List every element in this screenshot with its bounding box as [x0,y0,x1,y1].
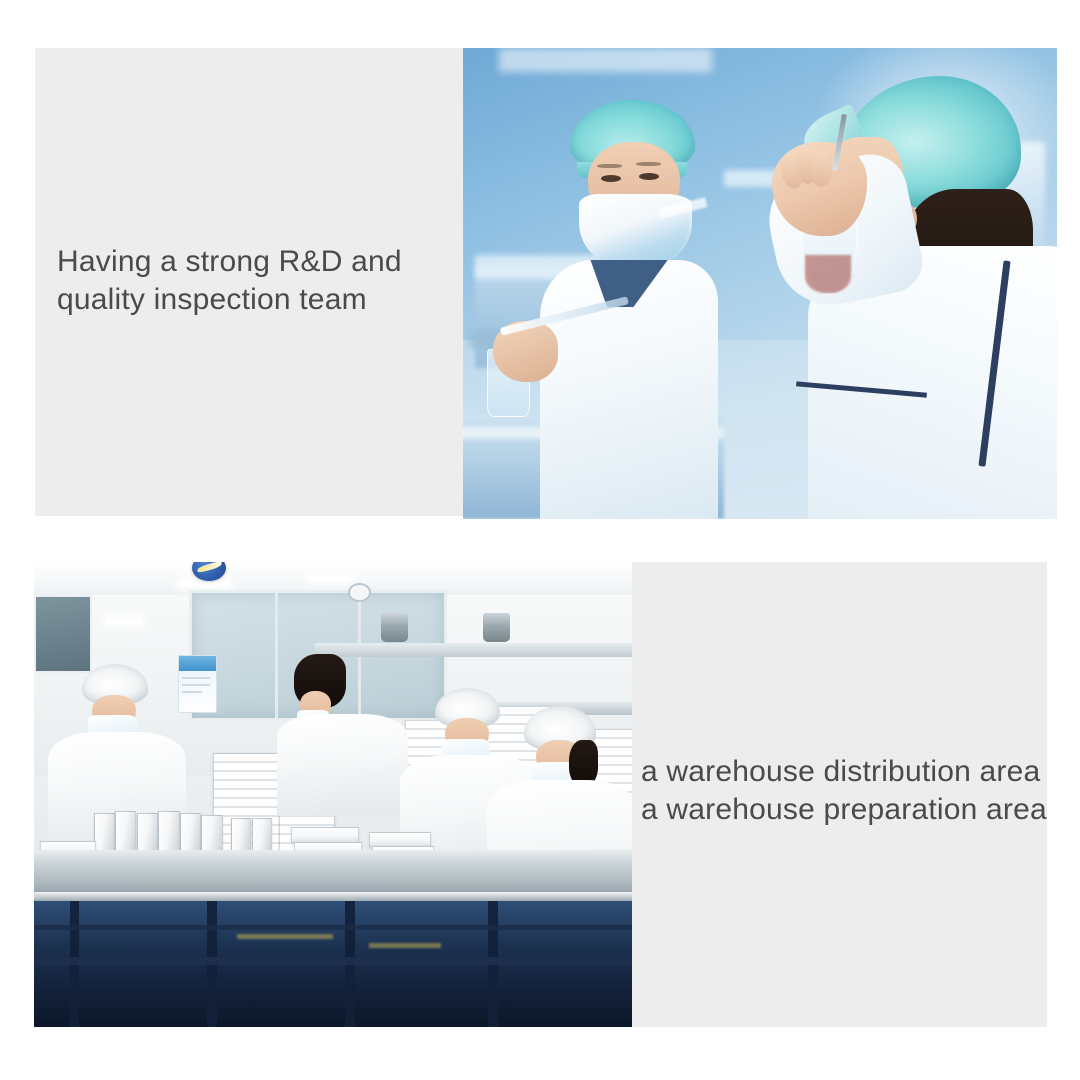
window-mullion [275,593,278,719]
rnd-caption-line-1: Having a strong R&D and [57,243,457,281]
rnd-caption-line-2: quality inspection team [57,281,457,319]
notice-header [179,656,216,671]
worker-left [82,664,148,766]
warehouse-caption-line-2: a warehouse preparation area [641,791,1041,829]
table-rail [34,925,632,931]
worker-white-coat [277,714,409,816]
rnd-caption: Having a strong R&D and quality inspecti… [57,243,457,320]
technician-left-eyebrow-left [597,164,622,168]
sign-swoosh-icon [197,562,221,574]
wall-notice-board [178,655,217,713]
flask-liquid [805,255,851,293]
warehouse-caption-line-1: a warehouse distribution area [641,753,1041,791]
worker-middle [435,688,501,790]
notice-text-line [182,677,210,679]
wall-clock-icon [348,583,371,602]
worker-right [524,706,596,818]
wall-window-left [34,595,92,673]
floor-marking [237,934,333,939]
warehouse-caption: a warehouse distribution area a warehous… [641,753,1041,830]
worker-bending [297,660,357,753]
stainless-container [381,613,409,642]
back-counter [315,643,632,657]
table-edge [34,892,632,901]
technician-left-eyebrow-right [636,162,661,166]
notice-text-line [182,684,210,686]
warehouse-packing-photo [34,562,632,1027]
stainless-container [483,613,511,642]
floor-marking [369,943,441,948]
ceiling-light [309,576,351,583]
table-rail [34,957,632,964]
lab-ceiling-light [499,48,713,72]
notice-text-line [182,691,202,693]
ceiling-light [106,618,142,625]
lab-quality-inspection-photo [463,48,1057,519]
stainless-steel-table [34,850,632,897]
ceiling-light [178,581,232,588]
